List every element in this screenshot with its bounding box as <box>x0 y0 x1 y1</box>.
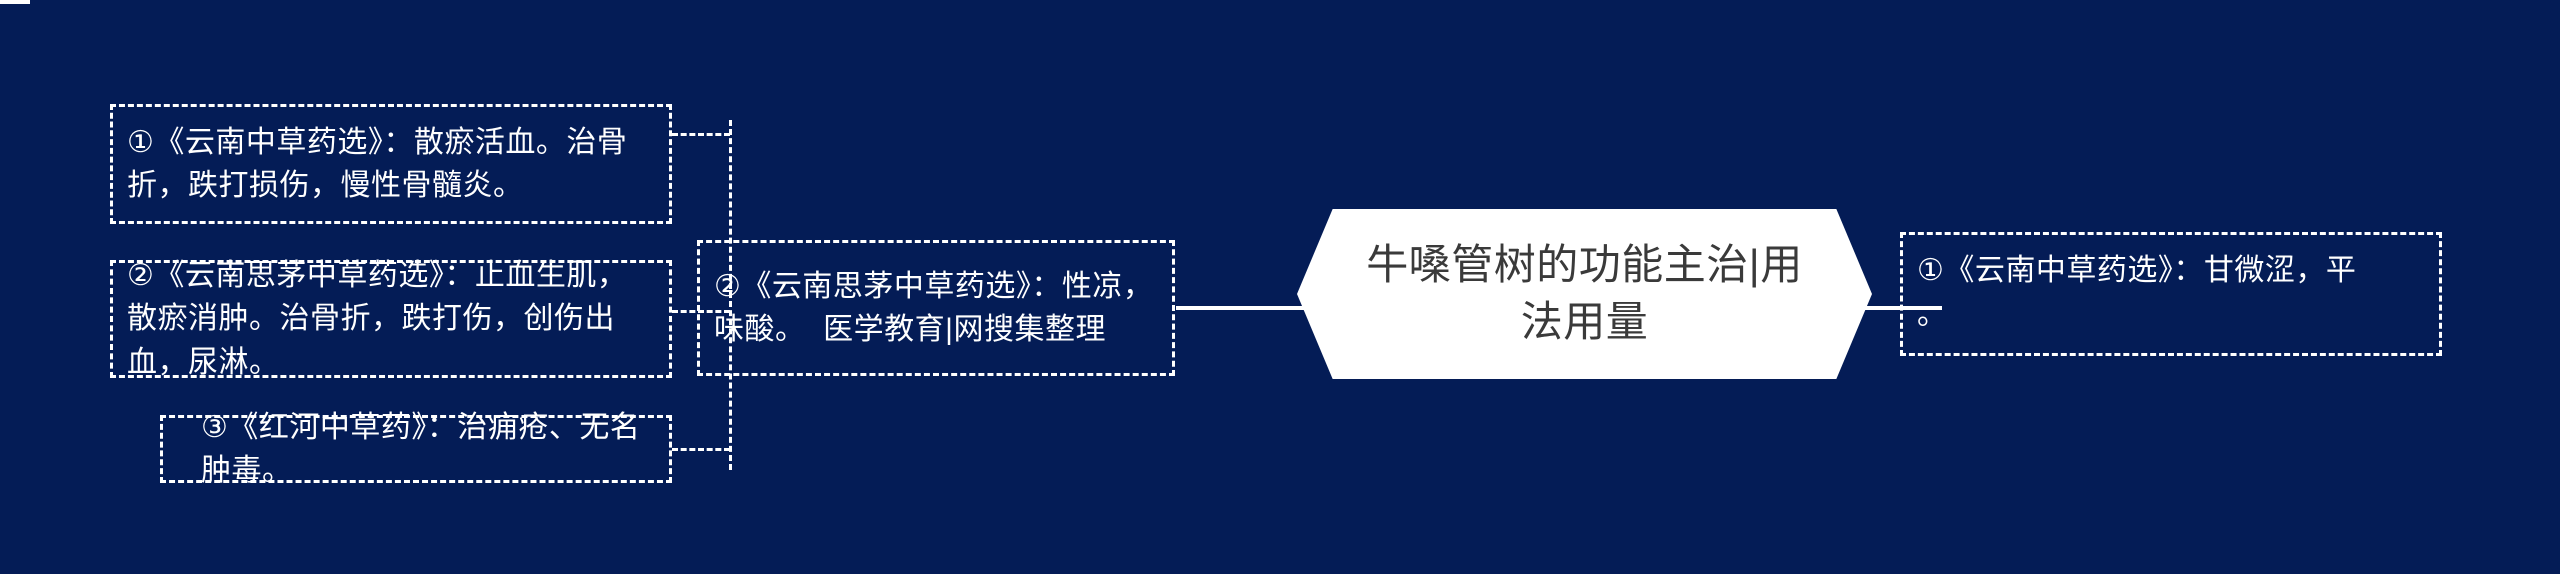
note-box-left-3[interactable]: ③《红河中草药》：治痈疮、无名肿毒。 <box>160 415 672 483</box>
center-banner: 牛嗓管树的功能主治|用法用量 <box>1297 209 1872 379</box>
connector-middle-to-banner <box>1176 306 1304 310</box>
connector-bracket-arm-3 <box>672 448 730 451</box>
note-box-left-2[interactable]: ②《云南思茅中草药选》：止血生肌，散瘀消肿。治骨折，跌打伤，创伤出血，尿淋。 <box>110 260 672 378</box>
page-title: 牛嗓管树的功能主治|用法用量 <box>1349 237 1821 350</box>
note-text: ②《云南思茅中草药选》：性凉，味酸。 医学教育|网搜集整理 <box>714 265 1158 352</box>
note-box-right[interactable]: ①《云南中草药选》：甘微涩，平 。 <box>1900 232 2442 356</box>
note-box-left-1[interactable]: ①《云南中草药选》：散瘀活血。治骨折，跌打损伤，慢性骨髓炎。 <box>110 104 672 224</box>
note-text: ③《红河中草药》：治痈疮、无名肿毒。 <box>177 406 655 493</box>
note-text: ①《云南中草药选》：甘微涩，平 。 <box>1917 241 2356 336</box>
connector-bracket-stub <box>0 0 30 4</box>
note-text: ①《云南中草药选》：散瘀活血。治骨折，跌打损伤，慢性骨髓炎。 <box>127 121 655 208</box>
diagram-canvas: ①《云南中草药选》：散瘀活血。治骨折，跌打损伤，慢性骨髓炎。 ②《云南思茅中草药… <box>0 0 2560 574</box>
note-box-middle[interactable]: ②《云南思茅中草药选》：性凉，味酸。 医学教育|网搜集整理 <box>697 240 1175 376</box>
note-text: ②《云南思茅中草药选》：止血生肌，散瘀消肿。治骨折，跌打伤，创伤出血，尿淋。 <box>127 254 655 385</box>
connector-bracket-arm-1 <box>672 133 730 136</box>
